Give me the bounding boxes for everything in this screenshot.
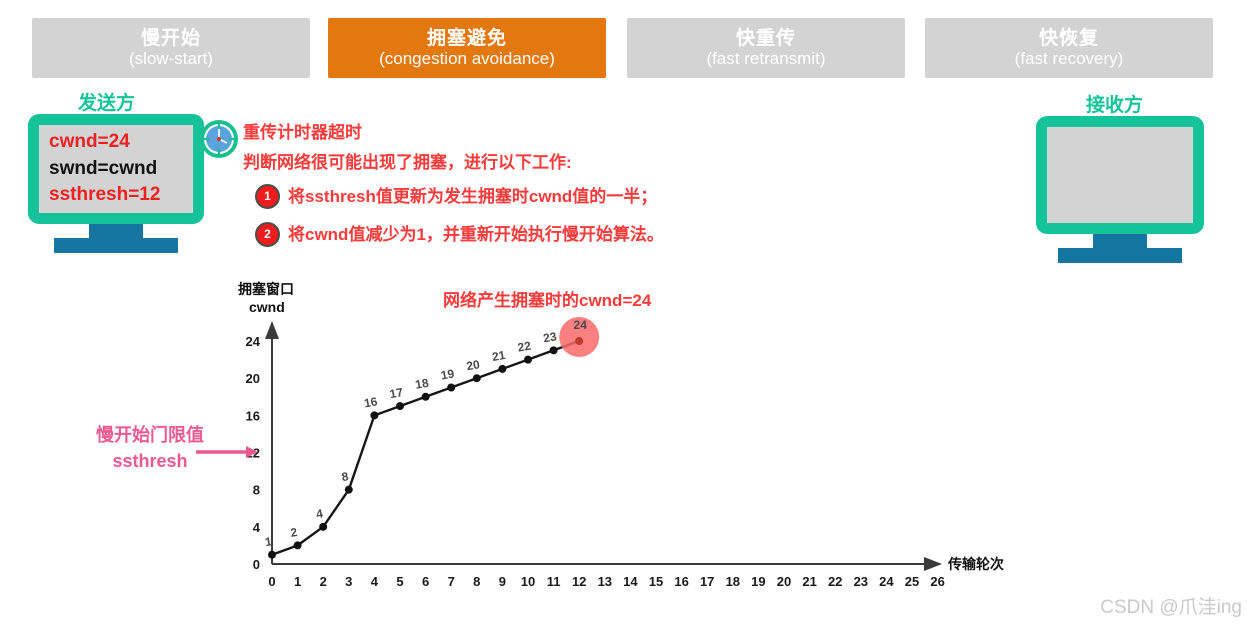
sender-monitor-base	[54, 238, 178, 253]
chart-point-label: 16	[363, 394, 379, 410]
retransmission-timer-clock-icon	[200, 120, 238, 158]
sender-label: 发送方	[78, 88, 135, 115]
tab-fast-retransmit[interactable]: 快重传 (fast retransmit)	[627, 18, 905, 78]
instruction-subtitle: 判断网络很可能出现了拥塞，进行以下工作:	[243, 154, 803, 171]
chart-point	[345, 486, 353, 494]
chart-point	[294, 541, 302, 549]
instruction-item-2: 2 将cwnd值减少为1，并重新开始执行慢开始算法。	[243, 222, 803, 247]
chart-y-tick: 4	[253, 520, 261, 535]
chart-x-tick: 13	[598, 574, 612, 589]
chart-point-label: 21	[491, 348, 507, 364]
chart-x-tick: 24	[879, 574, 894, 589]
chart-point-label: 23	[542, 329, 558, 345]
chart-point	[524, 356, 532, 364]
chart-ylabel-cn: 拥塞窗口	[238, 281, 294, 297]
chart-y-tick: 0	[253, 557, 260, 572]
chart-x-tick: 1	[294, 574, 301, 589]
chart-point	[319, 523, 327, 531]
chart-x-tick: 11	[547, 574, 561, 589]
chart-series-line	[272, 341, 579, 555]
chart-point-label: 19	[440, 366, 456, 382]
instruction-title: 重传计时器超时	[243, 124, 803, 141]
chart-x-tick: 3	[345, 574, 352, 589]
receiver-monitor-base	[1058, 248, 1182, 263]
chart-point-label: 17	[389, 385, 405, 401]
tab-fast-recovery-cn: 快恢复	[1039, 28, 1099, 49]
sender-monitor-neck	[89, 224, 143, 238]
chart-x-tick: 18	[726, 574, 740, 589]
chart-x-tick: 19	[751, 574, 765, 589]
chart-x-tick: 16	[674, 574, 688, 589]
tab-congestion-avoidance[interactable]: 拥塞避免 (congestion avoidance)	[328, 18, 606, 78]
chart-x-ticks: 0123456789101112131415161718192021222324…	[268, 574, 944, 589]
chart-x-tick: 12	[572, 574, 586, 589]
phase-tabbar: 慢开始 (slow-start) 拥塞避免 (congestion avoida…	[0, 0, 1258, 90]
chart-y-tick: 20	[246, 371, 260, 386]
chart-point	[447, 383, 455, 391]
sender-swnd-value: swnd=cwnd	[49, 156, 193, 183]
congestion-instructions: 重传计时器超时 判断网络很可能出现了拥塞，进行以下工作: 1 将ssthresh…	[243, 124, 803, 260]
instruction-item-1: 1 将ssthresh值更新为发生拥塞时cwnd值的一半；	[243, 184, 803, 209]
chart-data-points	[268, 337, 583, 559]
chart-x-tick: 6	[422, 574, 429, 589]
sender-screen-frame: cwnd=24 swnd=cwnd ssthresh=12	[28, 114, 204, 224]
chart-x-tick: 21	[802, 574, 816, 589]
chart-point	[498, 365, 506, 373]
chart-point	[473, 374, 481, 382]
congestion-cwnd-annotation: 网络产生拥塞时的cwnd=24	[443, 286, 651, 311]
chart-point	[370, 411, 378, 419]
chart-point	[268, 551, 276, 559]
chart-x-tick: 8	[473, 574, 480, 589]
chart-point	[422, 393, 430, 401]
instruction-item-1-text: 将ssthresh值更新为发生拥塞时cwnd值的一半；	[288, 188, 657, 205]
chart-x-tick: 2	[320, 574, 327, 589]
receiver-monitor-neck	[1093, 234, 1147, 248]
chart-point-label: 22	[517, 339, 533, 355]
receiver-monitor	[1036, 116, 1204, 263]
chart-point-label: 8	[341, 469, 350, 484]
chart-point-label: 2	[289, 525, 298, 540]
chart-point	[396, 402, 404, 410]
chart-x-tick: 9	[499, 574, 506, 589]
tab-fast-recovery-en: (fast recovery)	[1015, 49, 1124, 68]
tab-slow-start[interactable]: 慢开始 (slow-start)	[32, 18, 310, 78]
chart-x-tick: 26	[930, 574, 944, 589]
bullet-number-1: 1	[255, 184, 280, 209]
chart-y-tick: 8	[253, 483, 260, 498]
sender-cwnd-value: cwnd=24	[49, 129, 193, 156]
chart-xlabel: 传输轮次	[947, 556, 1004, 572]
chart-point	[575, 337, 583, 345]
chart-x-tick: 7	[448, 574, 455, 589]
instruction-item-2-text: 将cwnd值减少为1，并重新开始执行慢开始算法。	[288, 226, 664, 243]
sender-screen-content: cwnd=24 swnd=cwnd ssthresh=12	[39, 125, 193, 213]
receiver-screen-frame	[1036, 116, 1204, 234]
chart-point	[550, 346, 558, 354]
tab-congestion-avoidance-en: (congestion avoidance)	[379, 49, 555, 68]
chart-point-label: 24	[574, 318, 588, 332]
receiver-screen-content	[1047, 127, 1193, 223]
chart-x-tick: 17	[700, 574, 714, 589]
chart-x-tick: 10	[521, 574, 535, 589]
chart-ylabel-en: cwnd	[249, 299, 285, 315]
chart-point-labels: 1248161718192021222324	[264, 318, 587, 549]
csdn-watermark: CSDN @爪洼ing	[1100, 592, 1242, 619]
chart-x-tick: 4	[371, 574, 379, 589]
chart-x-tick: 25	[905, 574, 919, 589]
tab-slow-start-en: (slow-start)	[129, 49, 213, 68]
tab-slow-start-cn: 慢开始	[141, 28, 201, 49]
chart-x-tick: 20	[777, 574, 791, 589]
chart-x-tick: 5	[396, 574, 403, 589]
tab-fast-retransmit-en: (fast retransmit)	[706, 49, 825, 68]
chart-x-tick: 14	[623, 574, 638, 589]
sender-monitor: cwnd=24 swnd=cwnd ssthresh=12	[28, 114, 204, 253]
tab-fast-recovery[interactable]: 快恢复 (fast recovery)	[925, 18, 1213, 78]
chart-x-tick: 22	[828, 574, 842, 589]
tab-congestion-avoidance-cn: 拥塞避免	[427, 28, 507, 49]
chart-point-label: 18	[414, 376, 430, 392]
bullet-number-2: 2	[255, 222, 280, 247]
receiver-label: 接收方	[1086, 90, 1143, 117]
ssthresh-arrow-icon	[196, 445, 258, 459]
chart-point-label: 20	[465, 357, 481, 373]
sender-ssthresh-value: ssthresh=12	[49, 182, 193, 209]
chart-point-label: 4	[315, 506, 324, 521]
chart-x-tick: 15	[649, 574, 663, 589]
chart-x-tick: 23	[854, 574, 868, 589]
tab-fast-retransmit-cn: 快重传	[736, 28, 796, 49]
chart-y-tick: 24	[246, 334, 261, 349]
chart-x-tick: 0	[268, 574, 275, 589]
